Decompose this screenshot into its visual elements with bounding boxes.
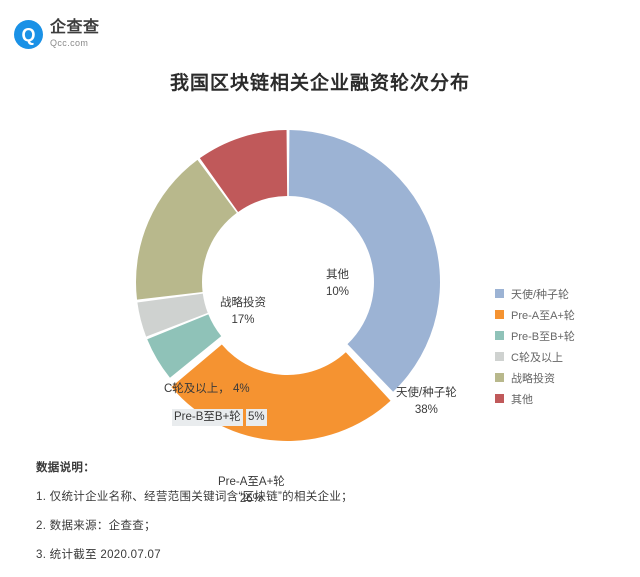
slice-label-strategic-name: 战略投资 (220, 297, 266, 309)
legend-swatch-icon (495, 352, 504, 361)
note-line-3: 3. 统计截至 2020.07.07 (36, 546, 456, 562)
legend-item-label: 其他 (511, 391, 533, 407)
brand-logo: Q 企查查 Qcc.com (14, 20, 100, 49)
logo-domain: Qcc.com (50, 38, 100, 49)
legend-swatch-icon (495, 373, 504, 382)
logo-brand-name: 企查查 (50, 20, 100, 37)
slice-label-c-name: C轮及以上， (164, 383, 230, 395)
slice-label-c-pct: 4% (233, 383, 250, 395)
note-line-2: 2. 数据来源：企查查； (36, 517, 456, 533)
chart-legend: 天使/种子轮Pre-A至A+轮Pre-B至B+轮C轮及以上战略投资其他 (495, 283, 615, 409)
legend-item-label: 战略投资 (511, 370, 555, 386)
donut-chart: 天使/种子轮 38% Pre-A至A+轮 26% Pre-B至B+轮 5% C轮… (128, 122, 448, 442)
page-title: 我国区块链相关企业融资轮次分布 (0, 68, 640, 95)
notes-title: 数据说明： (36, 459, 456, 475)
legend-swatch-icon (495, 289, 504, 298)
legend-item[interactable]: 战略投资 (495, 367, 615, 388)
slice-label-preb-name: Pre-B至B+轮 (172, 409, 243, 426)
legend-item[interactable]: C轮及以上 (495, 346, 615, 367)
logo-text: 企查查 Qcc.com (50, 20, 100, 49)
slice-label-other: 其他 10% (326, 267, 349, 300)
legend-item[interactable]: Pre-B至B+轮 (495, 325, 615, 346)
legend-swatch-icon (495, 331, 504, 340)
slice-label-preb: Pre-B至B+轮 5% (172, 409, 267, 426)
donut-slice[interactable] (289, 130, 440, 392)
slice-label-angel-pct: 38% (396, 402, 457, 419)
slice-label-strategic-pct: 17% (220, 312, 266, 329)
slice-label-other-name: 其他 (326, 269, 349, 281)
legend-item-label: 天使/种子轮 (511, 286, 569, 302)
slice-label-angel: 天使/种子轮 38% (396, 385, 457, 418)
data-notes: 数据说明： 1. 仅统计企业名称、经营范围关键词含“区块链”的相关企业； 2. … (36, 459, 456, 575)
slice-label-angel-name: 天使/种子轮 (396, 387, 457, 399)
legend-item[interactable]: Pre-A至A+轮 (495, 304, 615, 325)
legend-item-label: C轮及以上 (511, 349, 563, 365)
legend-swatch-icon (495, 310, 504, 319)
legend-item-label: Pre-B至B+轮 (511, 328, 575, 344)
slice-label-other-pct: 10% (326, 284, 349, 301)
slice-label-strategic: 战略投资 17% (220, 295, 266, 328)
legend-item[interactable]: 其他 (495, 388, 615, 409)
legend-item[interactable]: 天使/种子轮 (495, 283, 615, 304)
note-line-1: 1. 仅统计企业名称、经营范围关键词含“区块链”的相关企业； (36, 488, 456, 504)
slice-label-c: C轮及以上， 4% (164, 381, 250, 398)
legend-item-label: Pre-A至A+轮 (511, 307, 575, 323)
slice-label-preb-pct: 5% (246, 409, 267, 426)
legend-swatch-icon (495, 394, 504, 403)
logo-mark-icon: Q (14, 20, 43, 49)
